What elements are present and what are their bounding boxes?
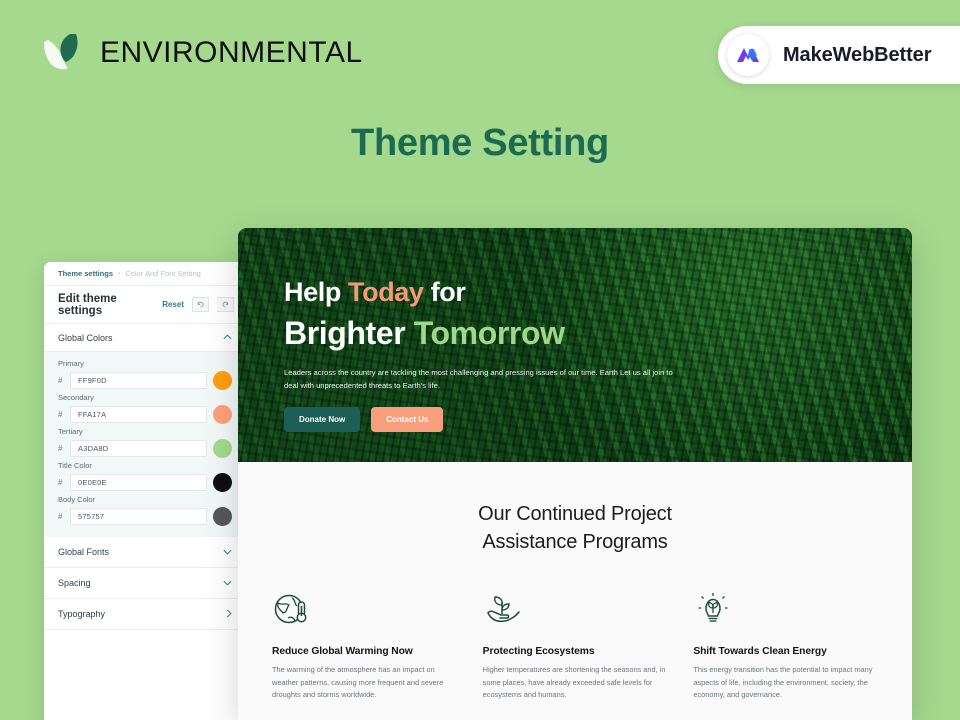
color-label: Body Color [58,495,232,504]
lightbulb-leaf-icon [693,589,878,634]
globe-thermometer-icon [272,589,457,634]
chevron-up-icon[interactable] [223,333,232,342]
breadcrumb-root[interactable]: Theme settings [58,269,113,278]
color-hex-input[interactable]: A3DA8D [70,440,207,457]
feature-card-title: Reduce Global Warming Now [272,646,457,657]
hero-title-part2: for [424,277,466,307]
section-spacing[interactable]: Spacing [44,568,244,599]
brand-name: ENVIRONMENTAL [100,36,363,70]
feature-card-text: Higher temperatures are shortening the s… [483,664,668,702]
hero-section: Help Today for Brighter Tomorrow Leaders… [238,228,912,462]
website-preview: Help Today for Brighter Tomorrow Leaders… [238,228,912,720]
hash-symbol: # [58,512,64,521]
color-label: Title Color [58,461,232,470]
color-label: Primary [58,359,232,368]
section-label: Spacing [58,578,223,588]
global-colors-list: Primary # FF9F0D Secondary # FFA17A [44,352,244,537]
feature-card-title: Protecting Ecosystems [483,646,668,657]
partner-badge: MakeWebBetter [718,26,960,84]
partner-name: MakeWebBetter [783,44,931,67]
projects-heading: Our Continued Project Assistance Program… [272,500,878,557]
color-swatch[interactable] [213,507,232,526]
color-row: Secondary # FFA17A [44,393,244,424]
color-label: Secondary [58,393,232,402]
hash-symbol: # [58,376,64,385]
leaf-icon [38,28,94,78]
panel-body: Global Colors Primary # FF9F0D Secondary [44,324,244,630]
undo-icon[interactable] [192,297,209,312]
theme-settings-panel: Theme settings › Color And Font Setting … [44,262,244,720]
color-swatch[interactable] [213,405,232,424]
projects-heading-line1: Our Continued Project [272,500,878,528]
color-hex-input[interactable]: FF9F0D [70,372,207,389]
hero-title-accent-tomorrow: Tomorrow [414,315,565,351]
color-swatch[interactable] [213,371,232,390]
donate-now-button[interactable]: Donate Now [284,407,360,432]
feature-card: Reduce Global Warming Now The warming of… [272,589,457,702]
redo-icon[interactable] [217,297,234,312]
hero-title-part1: Help [284,277,348,307]
contact-us-button[interactable]: Contact Us [371,407,443,432]
color-swatch[interactable] [213,439,232,458]
brand-logo: ENVIRONMENTAL [38,28,363,78]
color-row: Body Color # 575757 [44,495,244,526]
color-swatch[interactable] [213,473,232,492]
section-typography[interactable]: Typography [44,599,244,630]
breadcrumb: Theme settings › Color And Font Setting [44,262,244,286]
feature-card-text: The warming of the atmosphere has an imp… [272,664,457,702]
color-hex-input[interactable]: FFA17A [70,406,207,423]
hero-paragraph: Leaders across the country are tackling … [284,367,674,392]
hero-title-accent-today: Today [348,277,424,307]
color-row: Tertiary # A3DA8D [44,427,244,458]
hand-sprout-icon [483,589,668,634]
feature-card: Protecting Ecosystems Higher temperature… [483,589,668,702]
chevron-down-icon[interactable] [223,579,232,588]
hero-title-part3: Brighter [284,315,414,351]
feature-cards: Reduce Global Warming Now The warming of… [272,589,878,702]
projects-heading-line2: Assistance Programs [272,528,878,556]
chevron-right-icon[interactable] [226,609,232,620]
reset-button[interactable]: Reset [162,300,184,309]
hash-symbol: # [58,410,64,419]
section-label: Global Colors [58,333,223,343]
page-title: Theme Setting [0,122,960,165]
section-label: Typography [58,609,226,619]
color-row: Title Color # 0E0E0E [44,461,244,492]
feature-card: Shift Towards Clean Energy This energy t… [693,589,878,702]
projects-section: Our Continued Project Assistance Program… [238,462,912,720]
color-hex-input[interactable]: 0E0E0E [70,474,207,491]
section-label: Global Fonts [58,547,223,557]
hash-symbol: # [58,478,64,487]
hero-buttons: Donate Now Contact Us [284,407,912,432]
page-root: ENVIRONMENTAL MakeWebBetter Theme Settin… [0,0,960,720]
color-row: Primary # FF9F0D [44,359,244,390]
panel-title: Edit theme settings [58,293,154,317]
mwb-logo-icon [727,34,769,76]
chevron-down-icon[interactable] [223,548,232,557]
color-hex-input[interactable]: 575757 [70,508,207,525]
hash-symbol: # [58,444,64,453]
section-global-fonts[interactable]: Global Fonts [44,537,244,568]
color-label: Tertiary [58,427,232,436]
panel-header: Edit theme settings Reset [44,286,244,324]
feature-card-text: This energy transition has the potential… [693,664,878,702]
breadcrumb-current: Color And Font Setting [125,269,200,278]
section-global-colors[interactable]: Global Colors [44,324,244,352]
hero-heading: Help Today for Brighter Tomorrow [284,274,912,355]
feature-card-title: Shift Towards Clean Energy [693,646,878,657]
breadcrumb-separator-icon: › [118,270,120,277]
